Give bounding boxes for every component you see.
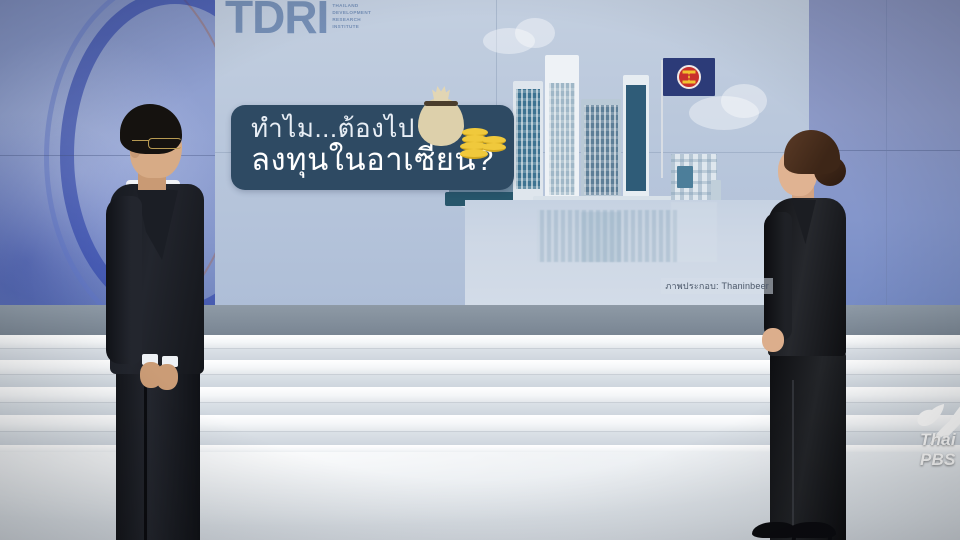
guest-hand-right [156,364,178,390]
tdri-logo: TDRI THAILAND DEVELOPMENT RESEARCH INSTI… [225,0,371,40]
coin-icon [460,149,488,159]
tdri-subtitle-line-1: THAILAND [332,2,371,9]
tdri-subtitle-line-4: INSTITUTE [332,23,371,30]
illustration-reflection [581,212,621,262]
guest-arm [106,196,142,364]
broadcast-frame: TDRI THAILAND DEVELOPMENT RESEARCH INSTI… [0,0,960,540]
building-tower-4 [623,75,649,203]
host-arm [764,212,792,340]
channel-name-label: Thai PBS [920,430,956,470]
asean-flag-icon [663,58,715,96]
money-bag-neck [432,86,450,102]
money-bag-icon [410,82,530,162]
building-right-window [677,166,693,188]
asean-flag-circle [677,65,701,89]
money-bag-tie [424,101,458,106]
tdri-logo-subtitle: THAILAND DEVELOPMENT RESEARCH INSTITUTE [332,2,371,30]
asean-flag-emblem [683,71,696,84]
host-skirt [770,352,846,540]
illustration-credit: ภาพประกอบ: Thaninbeer [661,278,773,294]
tdri-subtitle-line-3: RESEARCH [332,16,371,23]
host-skirt-pleat [792,380,794,540]
tdri-subtitle-line-2: DEVELOPMENT [332,9,371,16]
guest-trousers [116,362,200,540]
host-hand [762,328,784,352]
eyeglasses-icon [148,138,182,149]
guest-trouser-seam [144,386,147,540]
building-tower-3 [581,99,621,203]
illustration-reflection [671,202,717,262]
host-hair [784,130,840,174]
building-tower-2 [545,55,579,203]
tdri-logo-mark: TDRI [225,0,328,40]
backdrop-seam-vertical [886,0,887,335]
studio-video-wall: TDRI THAILAND DEVELOPMENT RESEARCH INSTI… [215,0,809,308]
news-host [756,130,868,530]
guest-speaker [92,104,232,508]
